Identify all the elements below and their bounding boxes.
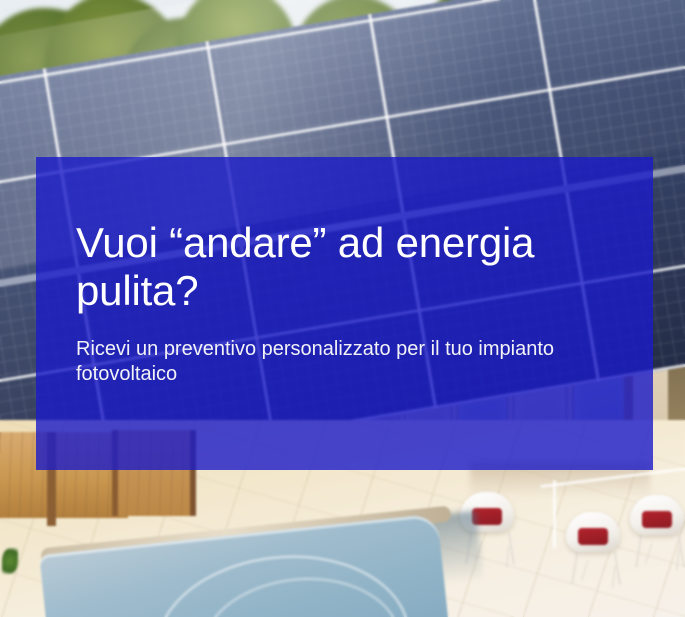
hero-overlay-panel: Vuoi “andare” ad energia pulita? Ricevi … — [36, 157, 653, 470]
page-title: Vuoi “andare” ad energia pulita? — [76, 219, 613, 315]
chair-cushion — [578, 528, 608, 545]
chair-legs — [571, 552, 621, 584]
patio-plant — [2, 548, 18, 574]
chair-cushion — [642, 511, 672, 528]
hero-banner: Vuoi “andare” ad energia pulita? Ricevi … — [0, 0, 685, 617]
hero-subtitle: Ricevi un preventivo personalizzato per … — [76, 337, 581, 387]
patio-rail-post — [553, 480, 556, 548]
